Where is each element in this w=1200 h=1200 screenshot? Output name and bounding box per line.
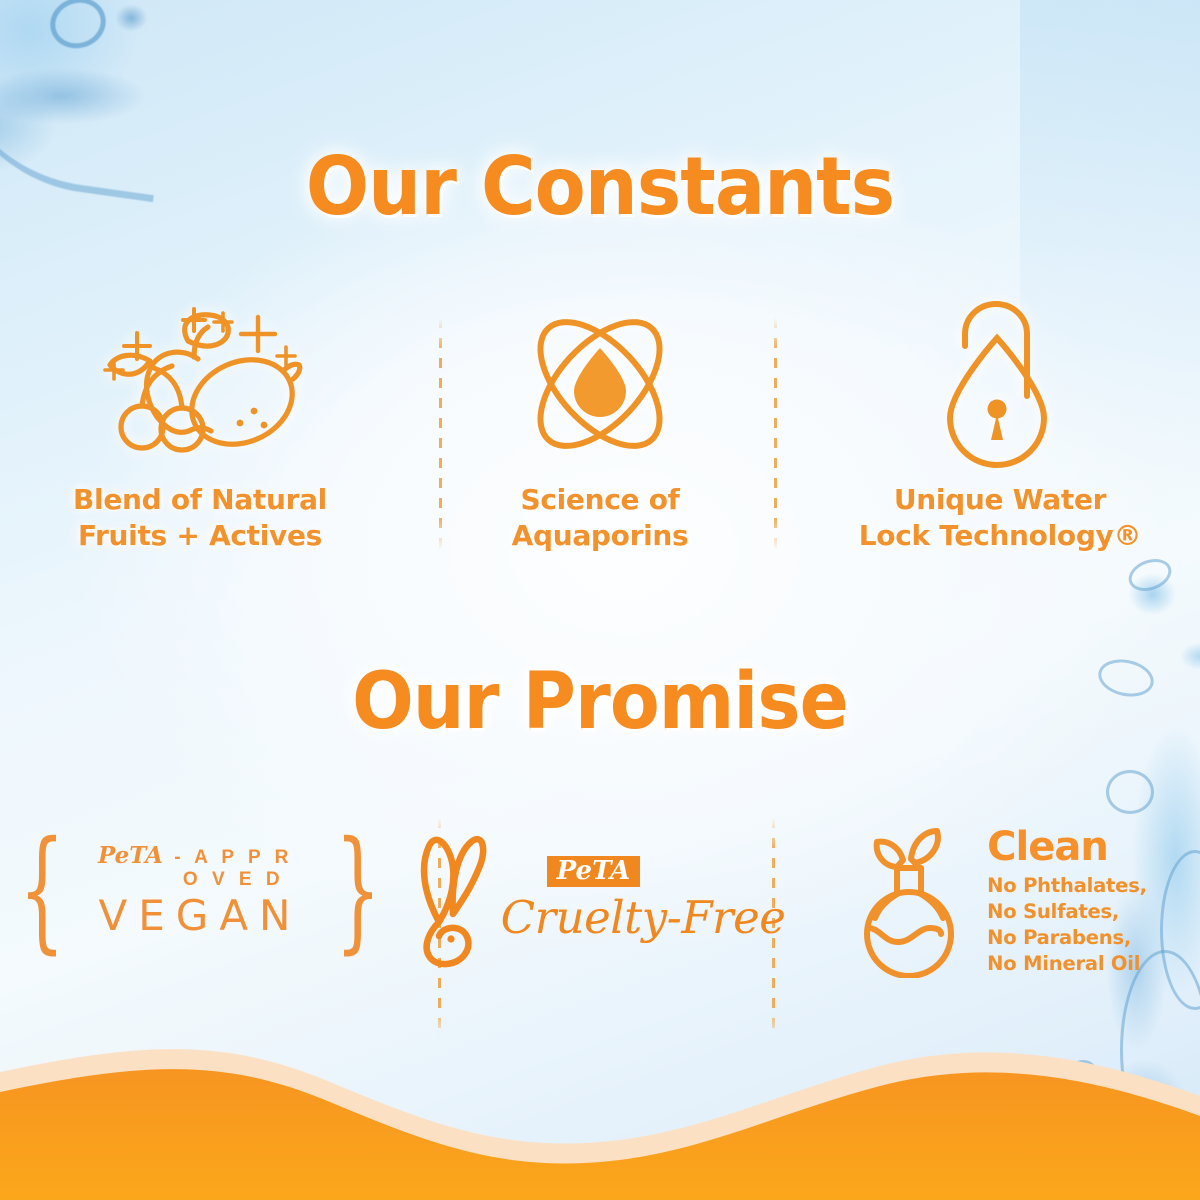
- promo-banner: Our Constants: [0, 0, 1200, 1200]
- constant-item-aquaporins: Science of Aquaporins: [400, 296, 800, 556]
- clean-title: Clean: [987, 827, 1147, 867]
- page-title-constants: Our Constants: [42, 140, 1158, 233]
- constant-item-water-lock: Unique Water Lock Technology®: [800, 296, 1200, 556]
- approved-text: - A P P R O V E D: [165, 847, 302, 891]
- constants-row: Blend of Natural Fruits + Actives Scienc…: [0, 296, 1200, 556]
- peta-wordmark: PeTA: [98, 842, 163, 869]
- peta-cruelty-free-logo: PeTA Cruelty-Free: [415, 830, 786, 970]
- water-drop-padlock-icon: [925, 296, 1075, 476]
- promise-item-vegan: { PeTA - A P P R O V E D VEGAN }: [0, 800, 400, 1040]
- brace-left-icon: {: [19, 843, 65, 938]
- constant-item-fruits: Blend of Natural Fruits + Actives: [0, 296, 400, 556]
- bottom-wave-decoration: [0, 1030, 1200, 1200]
- vegan-text: VEGAN: [99, 891, 302, 940]
- clean-ingredient-list: No Phthalates, No Sulfates, No Parabens,…: [987, 873, 1147, 977]
- page-title-promise: Our Promise: [42, 657, 1158, 747]
- brace-right-icon: }: [335, 843, 381, 938]
- promise-item-clean: Clean No Phthalates, No Sulfates, No Par…: [800, 800, 1200, 1040]
- promise-row: { PeTA - A P P R O V E D VEGAN }: [0, 800, 1200, 1040]
- peta-approved-vegan-logo: { PeTA - A P P R O V E D VEGAN }: [0, 842, 400, 940]
- constant-label-water-lock: Unique Water Lock Technology®: [859, 482, 1141, 554]
- cruelty-free-text: Cruelty-Free: [501, 891, 786, 944]
- clean-flask-icon: [853, 826, 971, 978]
- constant-label-fruits: Blend of Natural Fruits + Actives: [73, 482, 327, 554]
- fruits-sparkle-icon: [90, 296, 310, 476]
- atom-water-drop-icon: [510, 296, 690, 476]
- promise-item-cruelty-free: PeTA Cruelty-Free: [400, 800, 800, 1040]
- constant-label-aquaporins: Science of Aquaporins: [512, 482, 689, 554]
- bunny-script-icon: [415, 830, 507, 970]
- peta-badge: PeTA: [547, 856, 641, 887]
